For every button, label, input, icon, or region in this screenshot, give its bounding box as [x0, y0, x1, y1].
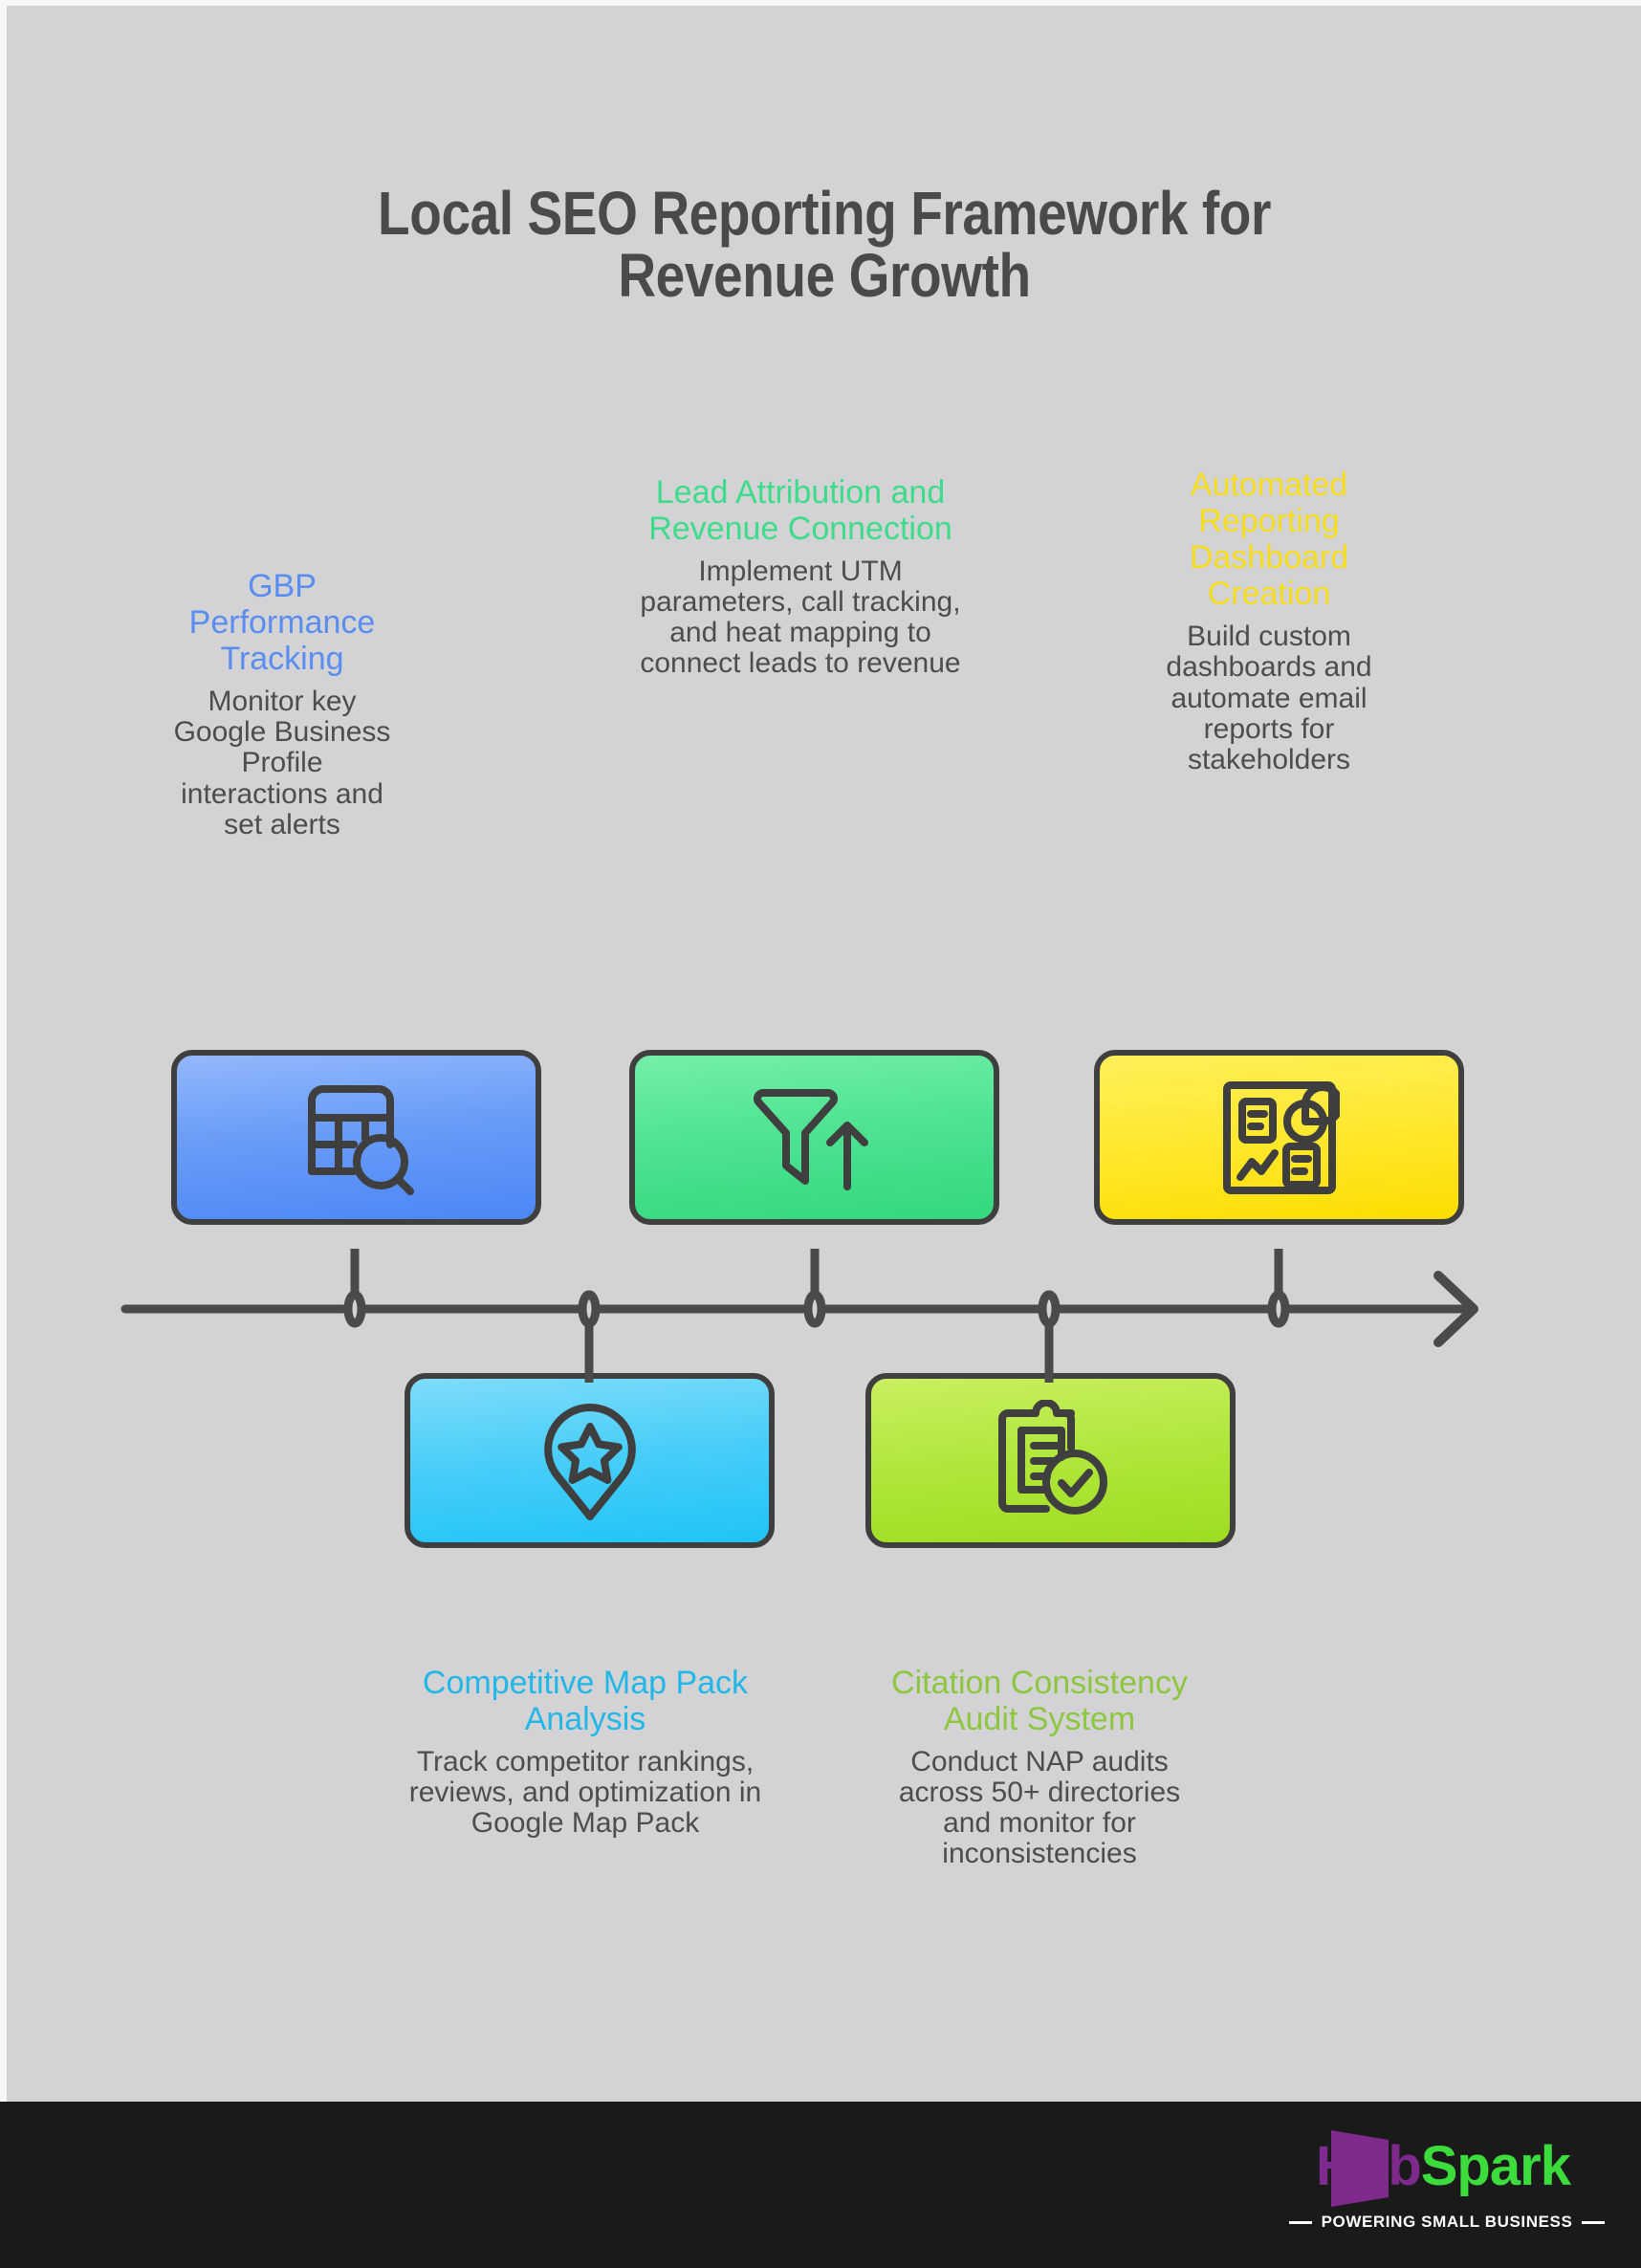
timeline-node-4 — [1042, 1295, 1056, 1323]
logo-rule-right — [1582, 2221, 1605, 2224]
table-search-icon — [295, 1079, 419, 1196]
timeline-node-1 — [348, 1295, 361, 1323]
topic-text-citation-consistency: Citation Consistency Audit System Conduc… — [877, 1665, 1202, 1870]
clipboard-check-icon — [989, 1400, 1113, 1522]
page-title-line-1: Local SEO Reporting Framework for — [236, 183, 1412, 245]
funnel-arrow-up-icon — [750, 1078, 880, 1198]
topic-heading: GBP Performance Tracking — [167, 568, 397, 677]
topic-body: Implement UTM parameters, call tracking,… — [638, 556, 963, 679]
timeline-node-5 — [1272, 1295, 1285, 1323]
brand-logo: HubSpark POWERING SMALL BUSINESS — [1289, 2125, 1605, 2249]
topic-heading: Automated Reporting Dashboard Creation — [1130, 467, 1408, 612]
page-title-line-2: Revenue Growth — [236, 245, 1412, 307]
topic-text-competitive-map-pack: Competitive Map Pack Analysis Track comp… — [399, 1665, 772, 1839]
topic-body: Conduct NAP audits across 50+ directorie… — [877, 1747, 1202, 1869]
icon-card-citation-consistency[interactable] — [865, 1373, 1236, 1548]
topic-body: Monitor key Google Business Profile inte… — [167, 687, 397, 840]
logo-text-spark: Spark — [1421, 2135, 1570, 2197]
logo-tagline: POWERING SMALL BUSINESS — [1322, 2213, 1573, 2232]
timeline-node-3 — [808, 1295, 821, 1323]
icon-card-gbp-performance-tracking[interactable] — [171, 1050, 541, 1225]
icon-card-automated-reporting[interactable] — [1094, 1050, 1464, 1225]
logo-text-hub: Hub — [1316, 2135, 1421, 2197]
logo-rule-left — [1289, 2221, 1312, 2224]
dashboard-charts-icon — [1219, 1078, 1340, 1198]
topic-text-lead-attribution: Lead Attribution and Revenue Connection … — [638, 474, 963, 680]
topic-heading: Competitive Map Pack Analysis — [399, 1665, 772, 1737]
topic-heading: Lead Attribution and Revenue Connection — [638, 474, 963, 547]
timeline-node-2 — [582, 1295, 596, 1323]
topic-text-gbp-performance-tracking: GBP Performance Tracking Monitor key Goo… — [167, 568, 397, 840]
topic-text-automated-reporting: Automated Reporting Dashboard Creation B… — [1130, 467, 1408, 775]
infographic-page: Local SEO Reporting Framework for Revenu… — [0, 0, 1641, 2268]
topic-body: Build custom dashboards and automate ema… — [1130, 622, 1408, 774]
icon-card-lead-attribution[interactable] — [629, 1050, 999, 1225]
infographic-canvas: Local SEO Reporting Framework for Revenu… — [7, 6, 1641, 2268]
map-pin-star-icon — [534, 1398, 646, 1524]
footer-bar: HubSpark POWERING SMALL BUSINESS — [0, 2102, 1641, 2268]
page-title: Local SEO Reporting Framework for Revenu… — [236, 183, 1412, 308]
icon-card-competitive-map-pack[interactable] — [405, 1373, 775, 1548]
topic-body: Track competitor rankings, reviews, and … — [399, 1747, 772, 1839]
timeline — [7, 1249, 1641, 1383]
topic-heading: Citation Consistency Audit System — [877, 1665, 1202, 1737]
